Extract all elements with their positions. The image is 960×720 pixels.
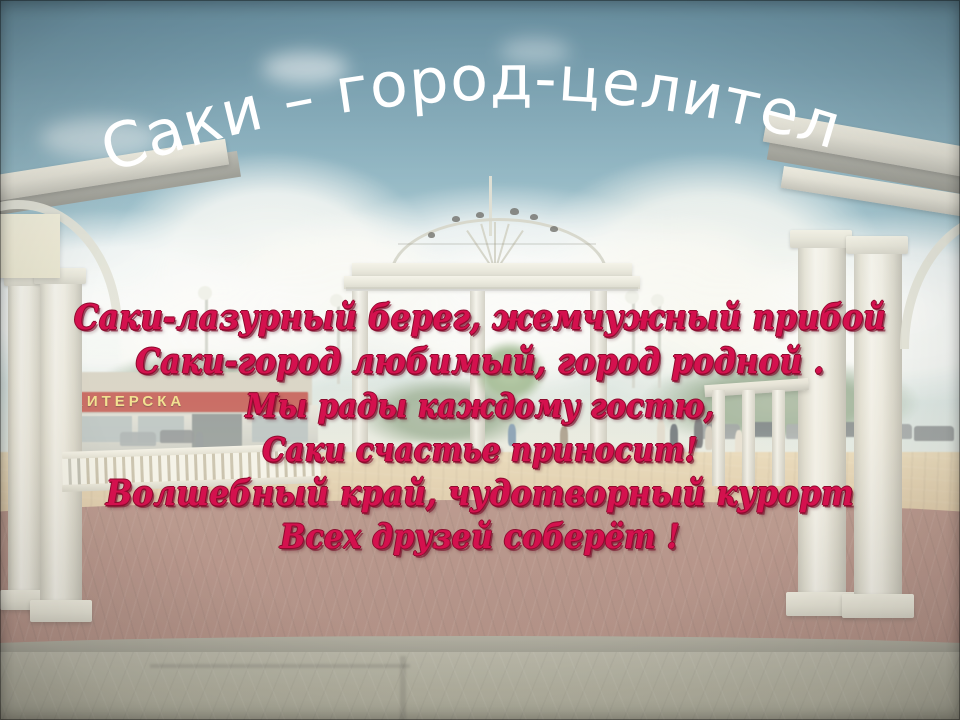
foreground-paving bbox=[0, 652, 960, 720]
column-capital bbox=[846, 236, 908, 254]
column bbox=[798, 248, 846, 598]
right-wing-column bbox=[712, 390, 725, 486]
car bbox=[120, 432, 156, 446]
bird bbox=[476, 212, 484, 218]
shop-window bbox=[252, 416, 308, 442]
bird bbox=[510, 208, 519, 215]
paving-seam bbox=[150, 664, 410, 668]
lamp-post bbox=[632, 296, 635, 388]
right-wing-column bbox=[772, 390, 785, 486]
lamp-head bbox=[625, 290, 639, 304]
car bbox=[160, 430, 194, 443]
lamp-post bbox=[337, 300, 340, 384]
lamp-head bbox=[198, 286, 212, 300]
cloud-small bbox=[500, 38, 570, 64]
lamp-post bbox=[205, 292, 208, 378]
column bbox=[40, 284, 82, 606]
bird bbox=[530, 214, 538, 220]
person bbox=[560, 426, 568, 448]
car bbox=[914, 426, 954, 441]
person bbox=[508, 424, 516, 446]
bird bbox=[428, 232, 435, 238]
bird bbox=[452, 216, 460, 222]
shop-sign-text: АИТЕРСКА bbox=[72, 393, 185, 410]
column bbox=[8, 286, 44, 596]
person bbox=[670, 424, 678, 448]
column-base bbox=[30, 600, 92, 622]
person bbox=[657, 420, 665, 446]
gazebo-dome-ring bbox=[398, 243, 596, 245]
lamp-head bbox=[330, 294, 343, 307]
lamp-post bbox=[658, 300, 661, 388]
right-wing-column bbox=[742, 390, 755, 486]
cloud-small bbox=[262, 52, 348, 84]
column bbox=[854, 254, 902, 600]
gazebo-sculpture bbox=[462, 330, 558, 414]
lamp-head bbox=[651, 294, 664, 307]
person bbox=[694, 418, 703, 448]
bird bbox=[550, 226, 558, 232]
column-base bbox=[842, 594, 914, 618]
column-capital bbox=[790, 230, 852, 248]
slide-canvas: АИТЕРСКА bbox=[0, 0, 960, 720]
left-wall-block bbox=[0, 214, 60, 278]
